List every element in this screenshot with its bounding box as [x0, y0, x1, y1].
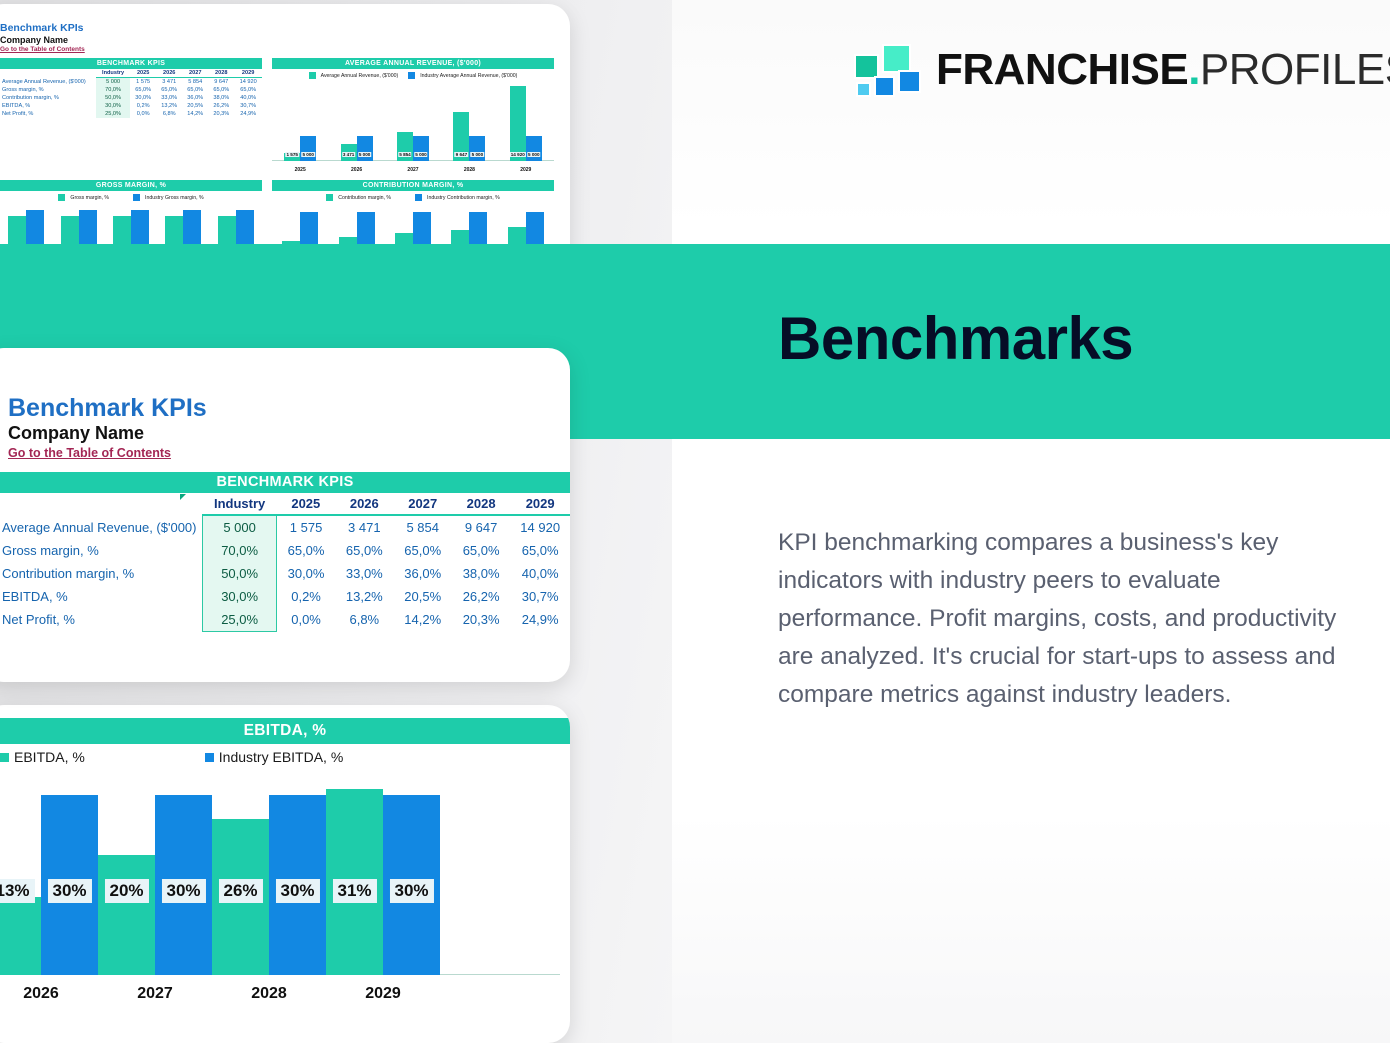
cell-2025: 1 575: [277, 515, 336, 539]
row-label: Gross margin, %: [0, 539, 203, 562]
table-row-average-annual-revenue: Average Annual Revenue, ($'000) 5 000 1 …: [0, 515, 570, 539]
bar-company: 3 471: [341, 144, 357, 161]
table-of-contents-link-large[interactable]: Go to the Table of Contents: [8, 446, 171, 460]
table-row: Contribution margin, %50,0%30,0%33,0%36,…: [0, 94, 262, 102]
legend-label: Average Annual Revenue, ($'000): [321, 73, 399, 79]
legend-label: Industry Average Annual Revenue, ($'000): [420, 73, 517, 79]
bar-value-label: 5 000: [301, 152, 315, 157]
bar-group: 13%30%2026: [0, 777, 98, 975]
cell-2028: 38,0%: [452, 562, 510, 585]
cell-2027: 65,0%: [394, 539, 452, 562]
bar-group: 31%30%2029: [326, 777, 440, 975]
table-of-contents-link-small[interactable]: Go to the Table of Contents: [0, 46, 85, 53]
bar-company: 9 647: [453, 112, 469, 161]
cell-industry: 25,0%: [203, 608, 277, 632]
legend-swatch-teal-icon: [58, 194, 65, 201]
bar-company: 20%: [98, 855, 155, 975]
bar-value-label: 3 471: [342, 152, 356, 157]
bar-industry: 30%: [155, 795, 212, 975]
bar-company: 14 920: [510, 86, 526, 161]
bar-industry: 5 000: [413, 136, 429, 161]
brand-dot: .: [1188, 45, 1200, 94]
cell-2027: 14,2%: [394, 608, 452, 632]
col-header-2025: 2025: [277, 493, 336, 515]
legend-label: Industry Gross margin, %: [145, 195, 204, 201]
sheet-title-small: Benchmark KPIs: [0, 22, 83, 34]
legend-swatch-teal-icon: [0, 753, 9, 762]
cell-2026: 33,0%: [335, 562, 393, 585]
col-2027: 2027: [182, 69, 208, 78]
bar-industry: 5 000: [300, 136, 316, 161]
mini-plot-revenue: 1 5755 00020253 4715 00020265 8545 00020…: [272, 83, 554, 175]
table-row: EBITDA, %30,0%0,2%13,2%20,5%26,2%30,7%: [0, 102, 262, 110]
bar-value-label: 26%: [218, 879, 262, 903]
mini-chart-title-contribution: CONTRIBUTION MARGIN, %: [272, 180, 554, 191]
col-2026: 2026: [156, 69, 182, 78]
bar-company: 31%: [326, 789, 383, 975]
mini-panel-benchmark-kpis: BENCHMARK KPIS Industry 2025 2026 2027 2…: [0, 58, 262, 118]
cell-2027: 20,5%: [394, 585, 452, 608]
x-axis-label: 2029: [520, 167, 531, 173]
bar-value-label: 20%: [104, 879, 148, 903]
cell-2026: 65,0%: [335, 539, 393, 562]
cell-2028: 65,0%: [452, 539, 510, 562]
table-row-gross-margin: Gross margin, % 70,0% 65,0% 65,0% 65,0% …: [0, 539, 570, 562]
bar-industry: 30%: [41, 795, 98, 975]
mini-legend-revenue: Average Annual Revenue, ($'000) Industry…: [272, 72, 554, 79]
bar-company: 5 854: [397, 132, 413, 161]
bar-group: 9 6475 0002028: [441, 83, 497, 161]
benchmark-kpis-table: Industry 2025 2026 2027 2028 2029 Averag…: [0, 493, 570, 632]
x-axis-label: 2026: [351, 167, 362, 173]
cell-2029: 24,9%: [510, 608, 570, 632]
x-axis-label: 2028: [251, 985, 287, 1003]
slide-card-bottom: EBITDA, % EBITDA, % Industry EBITDA, % 0…: [0, 705, 570, 1043]
mini-benchmark-table: Industry 2025 2026 2027 2028 2029 Averag…: [0, 69, 262, 118]
legend-swatch-blue-icon: [133, 194, 140, 201]
plot-ebitda: 0%30%202513%30%202620%30%202726%30%20283…: [0, 777, 560, 1005]
legend-item-industry-ebitda: Industry EBITDA, %: [205, 749, 343, 765]
bar-value-label: 14 920: [510, 152, 526, 157]
description-paragraph: KPI benchmarking compares a business's k…: [778, 524, 1353, 714]
cell-2026: 6,8%: [335, 608, 393, 632]
mini-chart-revenue: AVERAGE ANNUAL REVENUE, ($'000) Average …: [272, 58, 554, 175]
table-row: Average Annual Revenue, ($'000)5 0001 57…: [0, 78, 262, 87]
brand-logo[interactable]: FRANCHISE.PROFILES: [854, 44, 1390, 96]
bar-group: 14 9205 0002029: [498, 83, 554, 161]
cell-2026: 3 471: [335, 515, 393, 539]
cell-industry: 50,0%: [203, 562, 277, 585]
cell-2026: 13,2%: [335, 585, 393, 608]
bar-group: 1 5755 0002025: [272, 83, 328, 161]
legend-label: Gross margin, %: [70, 195, 109, 201]
table-header-row: Industry 2025 2026 2027 2028 2029: [0, 69, 262, 78]
page-title: Benchmarks: [778, 309, 1133, 369]
legend-ebitda: EBITDA, % Industry EBITDA, %: [0, 749, 400, 765]
table-row-net-profit: Net Profit, % 25,0% 0,0% 6,8% 14,2% 20,3…: [0, 608, 570, 632]
x-axis-label: 2026: [23, 985, 59, 1003]
cell-2029: 14 920: [510, 515, 570, 539]
col-2028: 2028: [208, 69, 234, 78]
bar-value-label: 30%: [389, 879, 433, 903]
mini-chart-title-gross: GROSS MARGIN, %: [0, 180, 262, 191]
cell-2025: 0,2%: [277, 585, 336, 608]
panel-title-ebitda: EBITDA, %: [0, 718, 570, 744]
background-white-column: [672, 0, 1390, 1043]
bar-industry: 30%: [269, 795, 326, 975]
col-header-2027: 2027: [394, 493, 452, 515]
bar-industry: 5 000: [526, 136, 542, 161]
col-2025: 2025: [130, 69, 156, 78]
legend-item-ebitda: EBITDA, %: [0, 749, 85, 765]
cell-2029: 30,7%: [510, 585, 570, 608]
legend-swatch-blue-icon: [205, 753, 214, 762]
cell-corner-marker-icon: [180, 494, 186, 500]
bar-value-label: 13%: [0, 879, 35, 903]
sheet-subtitle-large: Company Name: [8, 423, 144, 444]
brand-name-bold: FRANCHISE: [936, 45, 1188, 94]
bar-company: 13%: [0, 897, 41, 975]
bar-industry: 30%: [383, 795, 440, 975]
legend-label: Industry Contribution margin, %: [427, 195, 500, 201]
x-axis-label: 2025: [295, 167, 306, 173]
sheet-title-large: Benchmark KPIs: [8, 394, 207, 423]
bar-company: 26%: [212, 819, 269, 975]
cell-2027: 5 854: [394, 515, 452, 539]
bar-value-label: 1 575: [285, 152, 299, 157]
col-header-2029: 2029: [510, 493, 570, 515]
bar-value-label: 9 647: [455, 152, 469, 157]
row-label: Net Profit, %: [0, 608, 203, 632]
bar-group: 20%30%2027: [98, 777, 212, 975]
bar-group: 5 8545 0002027: [385, 83, 441, 161]
legend-label: Industry EBITDA, %: [219, 749, 343, 765]
x-axis-label: 2028: [464, 167, 475, 173]
brand-name-light: PROFILES: [1200, 45, 1390, 94]
cell-industry: 5 000: [203, 515, 277, 539]
bar-value-label: 31%: [332, 879, 376, 903]
cell-2025: 30,0%: [277, 562, 336, 585]
cell-2025: 65,0%: [277, 539, 336, 562]
panel-title-benchmark-kpis: BENCHMARK KPIS: [0, 472, 570, 493]
legend-swatch-teal-icon: [309, 72, 316, 79]
bar-industry: 5 000: [357, 136, 373, 161]
legend-label: EBITDA, %: [14, 749, 85, 765]
mini-chart-title-revenue: AVERAGE ANNUAL REVENUE, ($'000): [272, 58, 554, 69]
bar-value-label: 5 000: [414, 152, 428, 157]
legend-swatch-teal-icon: [326, 194, 333, 201]
bar-value-label: 30%: [161, 879, 205, 903]
x-axis-label: 2029: [365, 985, 401, 1003]
mini-legend-contribution: Contribution margin, % Industry Contribu…: [272, 194, 554, 201]
col-header-2026: 2026: [335, 493, 393, 515]
legend-swatch-blue-icon: [408, 72, 415, 79]
row-label: EBITDA, %: [0, 585, 203, 608]
cell-2028: 9 647: [452, 515, 510, 539]
cell-2029: 40,0%: [510, 562, 570, 585]
cell-industry: 70,0%: [203, 539, 277, 562]
sheet-subtitle-small: Company Name: [0, 35, 68, 45]
mini-legend-gross: Gross margin, % Industry Gross margin, %: [0, 194, 262, 201]
table-row-ebitda: EBITDA, % 30,0% 0,2% 13,2% 20,5% 26,2% 3…: [0, 585, 570, 608]
table-row: Net Profit, %25,0%0,0%6,8%14,2%20,3%24,9…: [0, 110, 262, 118]
cell-2028: 20,3%: [452, 608, 510, 632]
bar-value-label: 30%: [275, 879, 319, 903]
bar-group: 26%30%2028: [212, 777, 326, 975]
col-industry: Industry: [96, 69, 130, 78]
bar-industry: 5 000: [469, 136, 485, 161]
bar-value-label: 5 000: [358, 152, 372, 157]
bar-value-label: 5 854: [398, 152, 412, 157]
cell-2025: 0,0%: [277, 608, 336, 632]
bar-value-label: 30%: [47, 879, 91, 903]
bar-group: 3 4715 0002026: [328, 83, 384, 161]
cell-industry: 30,0%: [203, 585, 277, 608]
franchise-profiles-logo-icon: [854, 44, 920, 96]
cell-2029: 65,0%: [510, 539, 570, 562]
brand-wordmark: FRANCHISE.PROFILES: [936, 48, 1390, 92]
bar-value-label: 5 000: [471, 152, 485, 157]
x-axis-label: 2027: [137, 985, 173, 1003]
cell-2028: 26,2%: [452, 585, 510, 608]
bar-company: 1 575: [284, 153, 300, 161]
legend-label: Contribution margin, %: [338, 195, 391, 201]
cell-2027: 36,0%: [394, 562, 452, 585]
bar-value-label: 5 000: [527, 152, 541, 157]
table-header-row: Industry 2025 2026 2027 2028 2029: [0, 493, 570, 515]
table-row-contribution-margin: Contribution margin, % 50,0% 30,0% 33,0%…: [0, 562, 570, 585]
row-label: Contribution margin, %: [0, 562, 203, 585]
mini-panel-title-kpis: BENCHMARK KPIS: [0, 58, 262, 69]
row-label: Average Annual Revenue, ($'000): [0, 515, 203, 539]
col-header-industry: Industry: [203, 493, 277, 515]
table-row: Gross margin, %70,0%65,0%65,0%65,0%65,0%…: [0, 86, 262, 94]
legend-swatch-blue-icon: [415, 194, 422, 201]
col-2029: 2029: [234, 69, 262, 78]
slide-card-middle: Benchmark KPIs Company Name Go to the Ta…: [0, 348, 570, 682]
col-header-2028: 2028: [452, 493, 510, 515]
x-axis-label: 2027: [407, 167, 418, 173]
